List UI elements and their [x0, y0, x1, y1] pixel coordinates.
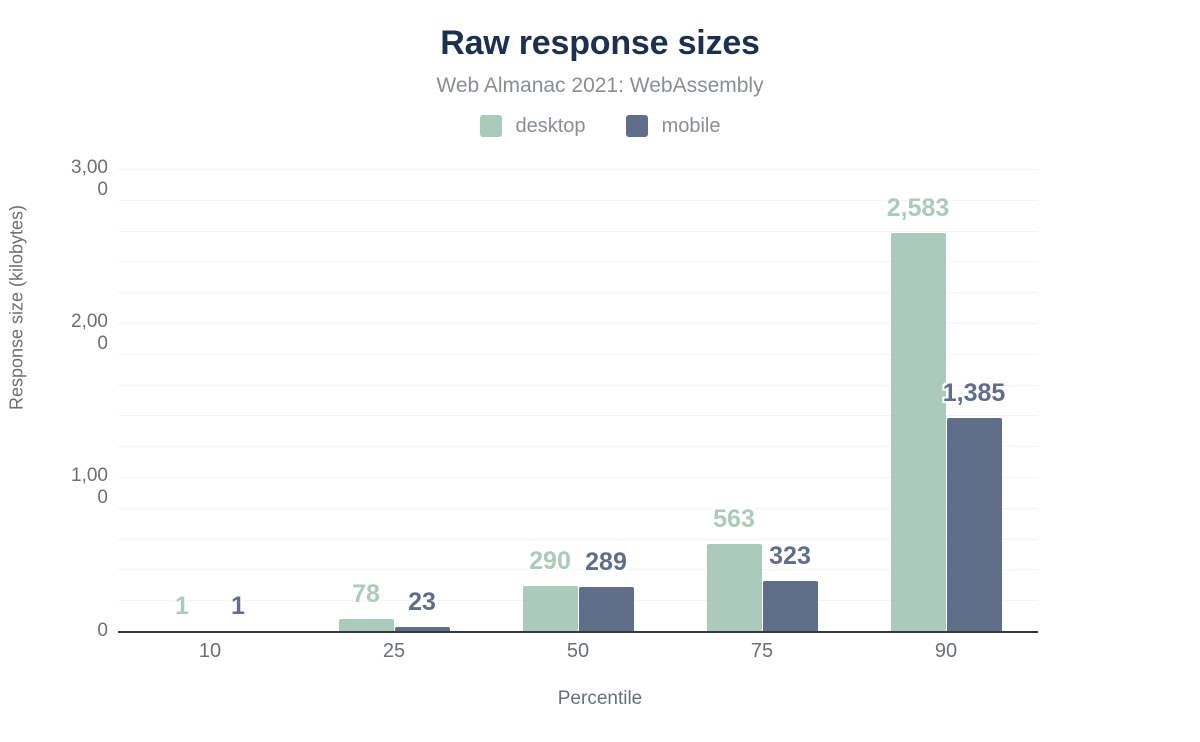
x-axis-tick-label: 25 — [334, 640, 454, 663]
x-axis-tick-label: 10 — [150, 640, 270, 663]
gridline — [118, 385, 1038, 386]
y-axis-tick-label: 3,000 — [46, 157, 108, 202]
gridline — [118, 600, 1038, 601]
bar-value-label-mobile-p75: 323 — [769, 542, 811, 571]
bar-value-label-mobile-p25: 23 — [408, 588, 436, 617]
chart-subtitle: Web Almanac 2021: WebAssembly — [0, 74, 1200, 98]
bar-desktop-p50[interactable] — [523, 586, 578, 631]
gridline — [118, 169, 1038, 170]
gridline — [118, 323, 1038, 324]
legend-label-desktop: desktop — [516, 116, 586, 136]
gridline — [118, 415, 1038, 416]
plot-area: 1178232902895633232,5831,385 — [118, 169, 1038, 631]
legend-swatch-mobile — [626, 115, 648, 137]
gridline — [118, 477, 1038, 478]
chart-legend: desktop mobile — [0, 115, 1200, 137]
gridline — [118, 354, 1038, 355]
bar-mobile-p25[interactable] — [395, 627, 450, 631]
gridline — [118, 446, 1038, 447]
bar-mobile-p50[interactable] — [579, 587, 634, 632]
bar-desktop-p90[interactable] — [891, 233, 946, 631]
bar-value-label-desktop-p50: 290 — [529, 547, 571, 576]
bar-value-label-mobile-p50: 289 — [585, 548, 627, 577]
bar-value-label-desktop-p10: 1 — [175, 592, 189, 621]
bar-value-label-desktop-p75: 563 — [713, 505, 755, 534]
legend-item-mobile[interactable]: mobile — [626, 115, 721, 137]
legend-swatch-desktop — [480, 115, 502, 137]
gridline — [118, 569, 1038, 570]
legend-item-desktop[interactable]: desktop — [480, 115, 586, 137]
y-axis-tick-label: 1,000 — [46, 465, 108, 510]
bar-value-label-desktop-p25: 78 — [352, 580, 380, 609]
x-axis-line — [118, 631, 1038, 633]
bar-mobile-p75[interactable] — [763, 581, 818, 631]
legend-label-mobile: mobile — [662, 116, 721, 136]
gridline — [118, 200, 1038, 201]
x-axis-tick-label: 75 — [702, 640, 822, 663]
bar-value-label-desktop-p90: 2,583 — [887, 194, 950, 223]
y-axis-tick-label: 0 — [46, 620, 108, 642]
x-axis-tick-label: 90 — [886, 640, 1006, 663]
bar-mobile-p90[interactable] — [947, 418, 1002, 631]
gridline — [118, 292, 1038, 293]
gridline — [118, 539, 1038, 540]
chart-title: Raw response sizes — [0, 24, 1200, 63]
y-axis-tick-label: 2,000 — [46, 311, 108, 356]
bar-value-label-mobile-p90: 1,385 — [943, 379, 1006, 408]
gridline — [118, 508, 1038, 509]
bar-desktop-p25[interactable] — [339, 619, 394, 631]
gridline — [118, 261, 1038, 262]
bar-value-label-mobile-p10: 1 — [231, 592, 245, 621]
bar-desktop-p75[interactable] — [707, 544, 762, 631]
x-axis-tick-label: 50 — [518, 640, 638, 663]
gridline — [118, 231, 1038, 232]
x-axis-title: Percentile — [0, 688, 1200, 710]
chart-header: Raw response sizes Web Almanac 2021: Web… — [0, 0, 1200, 137]
